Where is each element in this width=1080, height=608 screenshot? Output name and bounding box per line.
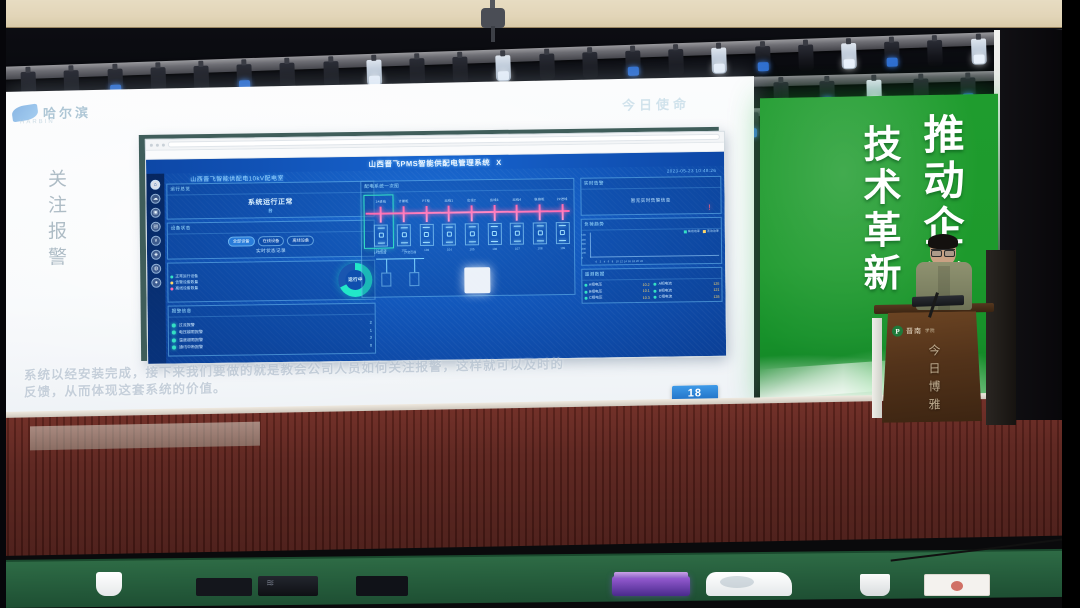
feeder-bay[interactable]: 出线3106 bbox=[483, 197, 505, 203]
breaker-icon bbox=[536, 225, 543, 226]
breaker-icon bbox=[514, 226, 521, 227]
dashboard-left-column: 运行总览 系统运行正常 台 设备状态 全部设备在线设备离 bbox=[166, 181, 376, 361]
dashboard-screenshot: 山西晋飞PMS智能供配电管理系统 X 山西晋飞智能供配电10kV配电室 2023… bbox=[145, 131, 727, 365]
status-pill-row: 全部设备在线设备离线设备 bbox=[171, 235, 371, 248]
panel-telemetry: 遥测数据 A相电压10.2A相电流125B相电压10.1B相电流121C相电压1… bbox=[581, 267, 723, 304]
stage-spotlight bbox=[669, 49, 685, 76]
telemetry-value: 128 bbox=[714, 294, 720, 298]
purple-phone bbox=[612, 576, 690, 596]
feeder-drop bbox=[561, 204, 563, 220]
panel-device-status: 设备状态 全部设备在线设备离线设备 实时状态记录 bbox=[167, 220, 375, 260]
monitor-icon[interactable]: ▣ bbox=[151, 208, 161, 218]
feeder-bottom-label: 105 bbox=[469, 247, 474, 251]
device-c bbox=[356, 576, 408, 596]
feeder-bay[interactable]: 1#进线101开关 bbox=[370, 198, 392, 204]
chart-x-tick: 2 bbox=[600, 261, 601, 264]
gauge-wrap: 正常运行设备告警设备数量离线设备数量 运行中 bbox=[168, 261, 374, 302]
speaker-hair bbox=[928, 234, 958, 249]
feeder-top-label: 计量柜 bbox=[392, 198, 414, 204]
dashboard-right-column: 实时告警 暂无实时告警信息 ! 负荷趋势 有功功率无功功率 bbox=[580, 176, 723, 355]
switchgear-symbol bbox=[533, 222, 547, 244]
disconnector-icon bbox=[492, 231, 497, 236]
stage-spotlight bbox=[626, 50, 642, 77]
podium-logo-subtext: 学院 bbox=[925, 327, 935, 333]
panel-load-trend-chart: 负荷趋势 有功功率无功功率 5004003002001000 024681012… bbox=[580, 217, 722, 266]
gauge-legend-label: 正常运行设备 bbox=[175, 274, 198, 279]
browser-forward-icon[interactable] bbox=[156, 143, 159, 146]
feeder-bottom-label: 103 bbox=[424, 248, 429, 252]
disconnector-icon bbox=[515, 231, 520, 236]
telemetry-value: 121 bbox=[713, 288, 719, 292]
panel-status-body: 全部设备在线设备离线设备 实时状态记录 bbox=[168, 232, 374, 259]
podium-laptop bbox=[912, 295, 964, 307]
disconnector-icon bbox=[424, 232, 429, 237]
earth-switch-icon bbox=[423, 242, 430, 243]
feeder-top-label: 出线2 bbox=[460, 197, 482, 203]
switchgear-symbol bbox=[465, 223, 479, 245]
telemetry-item: A相电压10.2 bbox=[584, 282, 650, 288]
earth-switch-icon bbox=[491, 241, 498, 242]
telemetry-value: 10.3 bbox=[643, 295, 650, 299]
load-trend-chart: 有功功率无功功率 5004003002001000 02468101214161… bbox=[581, 229, 721, 265]
disconnector-icon bbox=[560, 231, 565, 236]
feeder-top-label: 2#进线 bbox=[551, 196, 573, 202]
feeder-top-label: 出线3 bbox=[483, 197, 505, 203]
stage-spotlight bbox=[885, 41, 901, 68]
feeder-bay[interactable]: PT柜103 bbox=[415, 198, 437, 204]
breaker-icon bbox=[468, 226, 475, 227]
dashboard-title: 山西晋飞PMS智能供配电管理系统 bbox=[368, 157, 490, 170]
telemetry-label: A相电压 bbox=[589, 283, 602, 288]
stage-spotlight bbox=[755, 46, 771, 73]
breaker-icon bbox=[400, 227, 407, 228]
tissue-box bbox=[706, 572, 792, 596]
telemetry-item: B相电流121 bbox=[654, 287, 720, 293]
stage-spotlight bbox=[323, 61, 339, 88]
chart-x-tick: 10 bbox=[616, 260, 619, 263]
speaker-person bbox=[916, 236, 972, 322]
feeder-top-label: 联络柜 bbox=[528, 196, 550, 202]
telemetry-value: 10.1 bbox=[643, 289, 650, 293]
ceiling-camera-rig bbox=[476, 0, 510, 40]
panel-gauge: 正常运行设备告警设备数量离线设备数量 运行中 bbox=[167, 260, 375, 303]
feeder-bottom-label: 108 bbox=[538, 246, 543, 250]
browser-window: 山西晋飞PMS智能供配电管理系统 X 山西晋飞智能供配电10kV配电室 2023… bbox=[145, 131, 727, 365]
gauge-legend-label: 告警设备数量 bbox=[175, 280, 198, 285]
panel-overview: 运行总览 系统运行正常 台 bbox=[166, 181, 374, 220]
telemetry-item: C相电压10.3 bbox=[584, 295, 650, 301]
feeder-bottom-label: 106 bbox=[492, 247, 497, 251]
breaker-icon bbox=[378, 228, 385, 229]
bullet-icon bbox=[584, 297, 587, 300]
overview-unit: 台 bbox=[171, 207, 371, 216]
disconnector-icon bbox=[537, 231, 542, 236]
feeder-drop bbox=[448, 206, 450, 222]
breaker-icon bbox=[446, 227, 453, 228]
ceiling-wall bbox=[0, 0, 1080, 30]
dashboard-sidebar: ⌂☁▣▤∨◈◍● bbox=[146, 174, 166, 364]
legend-swatch-icon bbox=[684, 230, 687, 233]
feeder-drop bbox=[539, 204, 541, 220]
chart-x-tick: 20 bbox=[636, 260, 639, 263]
chart-y-tick: 0 bbox=[582, 256, 583, 259]
feeder-bottom-label: 107 bbox=[515, 247, 520, 251]
alarm-label: 电压越限报警 bbox=[179, 329, 203, 335]
overview-value: 系统运行正常 台 bbox=[170, 196, 370, 216]
switchgear-symbol bbox=[442, 224, 456, 246]
chart-x-tick: 16 bbox=[628, 260, 631, 263]
feeder-bottom-label: 109 bbox=[560, 246, 565, 250]
transformer-symbol-2 bbox=[409, 272, 419, 286]
chart-x-axis bbox=[590, 255, 720, 258]
alarm-label: 过流报警 bbox=[179, 322, 195, 328]
chart-x-tick: 12 bbox=[620, 260, 623, 263]
earth-switch-icon bbox=[514, 240, 521, 241]
stage-spotlight bbox=[539, 53, 555, 80]
panel-overview-body: 系统运行正常 台 bbox=[167, 193, 373, 219]
disconnector-icon bbox=[469, 232, 474, 237]
realtime-alarm-empty: 暂无实时告警信息 bbox=[584, 197, 718, 205]
cloud-icon[interactable]: ☁ bbox=[150, 194, 160, 204]
feeder-top-label: 出线4 bbox=[506, 197, 528, 203]
disconnector-icon bbox=[401, 233, 406, 238]
glasses-icon bbox=[931, 249, 955, 254]
chart-x-tick: 22 bbox=[640, 260, 643, 263]
feeder-drop bbox=[516, 205, 518, 221]
screen-hotspot-glare bbox=[464, 267, 490, 293]
stage-scene: 哈尔滨 HARBIN 今日使命 关注报警 山西晋飞PMS智能供配电管理系统 X bbox=[0, 0, 1080, 608]
slide-subtitle: 系统以经安装完成，接下来我们要做的就是教会公司人员如何关注报警，这样就可以及时的… bbox=[24, 353, 724, 402]
gauge-legend-item: 告警设备数量 bbox=[170, 280, 198, 285]
earth-switch-icon bbox=[559, 240, 566, 241]
stage-spotlight bbox=[971, 38, 987, 65]
switchgear-symbol bbox=[510, 223, 524, 245]
slide-header-right: 今日使命 bbox=[622, 94, 690, 114]
bullet-icon bbox=[654, 296, 657, 299]
device-a bbox=[196, 578, 252, 596]
realtime-alarm-body: 暂无实时告警信息 bbox=[581, 188, 721, 208]
feeder-top-label: PT柜 bbox=[415, 198, 437, 204]
stage-pillar-dark bbox=[986, 250, 1016, 425]
alarm-icon[interactable]: ∨ bbox=[151, 236, 161, 246]
panel-realtime-alarm: 实时告警 暂无实时告警信息 ! bbox=[580, 176, 722, 216]
feeder-top-label: 出线1 bbox=[438, 197, 460, 203]
feeder-drop bbox=[425, 206, 427, 222]
status-pill[interactable]: 离线设备 bbox=[287, 236, 314, 246]
dashboard-middle-column: 配电系统一次图 1#进线101开关计量柜102PT柜103出线1104出线210… bbox=[360, 178, 576, 358]
panel-alarm-body: 过流报警2电压越限报警1温度超限报警3通讯中断报警0 bbox=[169, 315, 375, 356]
legend-dot-icon bbox=[170, 281, 173, 284]
slide-vertical-heading: 关注报警 bbox=[42, 169, 69, 274]
chart-y-axis bbox=[589, 233, 590, 258]
feeder-drop bbox=[471, 205, 473, 221]
chart-y-tick: 100 bbox=[582, 252, 586, 255]
stage-spotlight bbox=[712, 47, 728, 74]
bullet-icon bbox=[584, 290, 587, 293]
telemetry-item: C相电流128 bbox=[654, 294, 720, 300]
feeder-bay[interactable]: 计量柜102 bbox=[392, 198, 414, 204]
browser-reload-icon[interactable] bbox=[162, 143, 165, 146]
telemetry-label: C相电流 bbox=[659, 295, 672, 300]
chart-legend-label: 无功功率 bbox=[707, 229, 719, 233]
device-donut-chart: 运行中 bbox=[338, 263, 372, 297]
chart-x-tick: 18 bbox=[632, 260, 635, 263]
stage-spotlight bbox=[841, 43, 857, 70]
chart-x-tick: 14 bbox=[624, 260, 627, 263]
breaker-icon bbox=[423, 227, 430, 228]
chart-legend-item: 无功功率 bbox=[703, 229, 719, 233]
chart-x-tick: 6 bbox=[608, 260, 609, 263]
alarm-label: 温度超限报警 bbox=[179, 337, 203, 343]
feeder-bay[interactable]: 出线1104 bbox=[438, 197, 460, 203]
podium-calligraphy: 今日博雅 bbox=[926, 344, 943, 416]
branch-line bbox=[376, 258, 424, 260]
feeder-bay[interactable]: 出线4107 bbox=[506, 197, 528, 203]
frame-right bbox=[1062, 0, 1080, 608]
panel-single-line-diagram: 配电系统一次图 1#进线101开关计量柜102PT柜103出线1104出线210… bbox=[360, 178, 575, 298]
podium-body: P 晋南 学院 今日博雅 bbox=[882, 311, 982, 423]
chart-y-tick: 200 bbox=[582, 247, 586, 250]
switchgear-symbol bbox=[374, 224, 388, 246]
telemetry-item: A相电流125 bbox=[654, 281, 720, 287]
telemetry-grid: A相电压10.2A相电流125B相电压10.1B相电流121C相电压10.3C相… bbox=[582, 279, 722, 303]
chart-y-tick: 400 bbox=[581, 238, 585, 241]
chart-legend-label: 有功功率 bbox=[688, 229, 700, 233]
feeder-drop bbox=[493, 205, 495, 221]
panel-alarm-list: 报警信息 过流报警2电压越限报警1温度超限报警3通讯中断报警0 bbox=[168, 303, 377, 357]
breaker-icon bbox=[491, 226, 498, 227]
podium-logo: P 晋南 学院 bbox=[892, 325, 935, 337]
alarm-list-item[interactable]: 通讯中断报警0 bbox=[172, 342, 372, 351]
chart-legend-item: 有功功率 bbox=[684, 229, 700, 233]
telemetry-label: C相电压 bbox=[589, 296, 602, 301]
branch-label-1: 1#变压器 bbox=[374, 251, 386, 255]
telemetry-label: A相电流 bbox=[659, 282, 672, 287]
settings-icon[interactable]: ◍ bbox=[151, 264, 161, 274]
single-line-diagram: 1#进线101开关计量柜102PT柜103出线1104出线2105出线3106出… bbox=[361, 190, 574, 297]
report-icon[interactable]: ▤ bbox=[151, 222, 161, 232]
switchgear-symbol bbox=[555, 222, 569, 244]
paper-card bbox=[924, 574, 990, 596]
projection-screen: 哈尔滨 HARBIN 今日使命 关注报警 山西晋飞PMS智能供配电管理系统 X bbox=[6, 76, 754, 427]
branch-label-2: 2#变压器 bbox=[404, 250, 416, 254]
podium-logo-mark: P bbox=[892, 326, 903, 337]
stage-spotlight bbox=[410, 58, 426, 85]
frame-left bbox=[0, 0, 6, 608]
bullet-icon bbox=[172, 323, 176, 327]
bullet-icon bbox=[584, 284, 587, 287]
chart-x-tick: 0 bbox=[596, 261, 597, 264]
dashboard-datetime: 2023-05-23 10:48:26 bbox=[667, 168, 716, 174]
bullet-icon bbox=[172, 346, 176, 350]
feeder-bay[interactable]: 2#进线109 bbox=[551, 196, 573, 202]
status-caption: 实时状态记录 bbox=[171, 247, 371, 256]
switchgear-symbol bbox=[419, 224, 433, 246]
device-b bbox=[258, 576, 318, 596]
chart-x-tick: 8 bbox=[612, 260, 613, 263]
transformer-symbol-1 bbox=[381, 272, 391, 286]
stage-spotlight bbox=[582, 52, 598, 79]
breaker-icon bbox=[559, 225, 566, 226]
water-cup bbox=[96, 572, 122, 596]
telemetry-value: 10.2 bbox=[643, 282, 650, 286]
browser-back-icon[interactable] bbox=[150, 143, 153, 146]
layers-icon[interactable]: ◈ bbox=[151, 250, 161, 260]
stage-spotlight bbox=[496, 55, 512, 82]
exclamation-icon: ! bbox=[708, 203, 710, 212]
pms-dashboard: 山西晋飞PMS智能供配电管理系统 X 山西晋飞智能供配电10kV配电室 2023… bbox=[146, 152, 726, 364]
chart-y-tick: 500 bbox=[581, 234, 585, 237]
earth-switch-icon bbox=[378, 242, 385, 243]
brand-subtext: HARBIN bbox=[20, 119, 55, 126]
overview-value-text: 系统运行正常 bbox=[248, 199, 293, 207]
feeder-bay[interactable]: 出线2105 bbox=[460, 197, 482, 203]
telemetry-label: B相电流 bbox=[659, 288, 672, 293]
transformer-branches: 1#变压器 2#变压器 bbox=[370, 254, 430, 291]
gauge-legend-label: 离线设备数量 bbox=[175, 286, 198, 291]
gauge-legend-item: 离线设备数量 bbox=[170, 286, 198, 291]
earth-switch-icon bbox=[400, 242, 407, 243]
podium-logo-text: 晋南 bbox=[906, 326, 922, 336]
legend-dot-icon bbox=[170, 287, 173, 290]
disconnector-icon bbox=[447, 232, 452, 237]
telemetry-label: B相电压 bbox=[589, 289, 602, 294]
bullet-icon bbox=[172, 338, 176, 342]
stage-spotlight bbox=[453, 57, 469, 84]
gauge-legend-item: 正常运行设备 bbox=[170, 274, 198, 279]
chart-x-tick: 4 bbox=[604, 260, 605, 263]
branch-drop-1 bbox=[386, 259, 388, 273]
status-pill[interactable]: 在线设备 bbox=[258, 236, 285, 246]
bullet-icon bbox=[172, 331, 176, 335]
donut-center-text: 运行中 bbox=[338, 263, 372, 297]
chart-legend: 有功功率无功功率 bbox=[684, 229, 719, 233]
telemetry-value: 125 bbox=[713, 281, 719, 285]
user-icon[interactable]: ● bbox=[151, 278, 161, 288]
legend-swatch-icon bbox=[703, 230, 706, 233]
telemetry-item: B相电压10.1 bbox=[584, 288, 650, 294]
feeder-top-label: 1#进线 bbox=[370, 198, 392, 204]
disconnector-icon bbox=[379, 233, 384, 238]
switchgear-symbol bbox=[487, 223, 501, 245]
status-pill[interactable]: 全部设备 bbox=[228, 236, 255, 246]
second-cup bbox=[860, 574, 890, 596]
earth-switch-icon bbox=[468, 241, 475, 242]
dashboard-title-badge[interactable]: X bbox=[496, 157, 502, 166]
earth-switch-icon bbox=[536, 240, 543, 241]
stage-steps bbox=[30, 422, 260, 451]
stage-spotlight bbox=[798, 44, 814, 71]
legend-dot-icon bbox=[170, 275, 173, 278]
feeder-drop bbox=[403, 206, 405, 222]
stage-spotlight bbox=[367, 60, 383, 87]
branch-drop-2 bbox=[414, 258, 416, 272]
chart-y-tick: 300 bbox=[581, 243, 585, 246]
alarm-label: 通讯中断报警 bbox=[179, 344, 203, 350]
bullet-icon bbox=[654, 283, 657, 286]
home-icon[interactable]: ⌂ bbox=[150, 180, 160, 190]
gauge-legend: 正常运行设备告警设备数量离线设备数量 bbox=[170, 273, 198, 292]
feeder-bay[interactable]: 联络柜108 bbox=[528, 196, 550, 202]
feeder-bottom-label: 104 bbox=[447, 248, 452, 252]
stage-spotlight bbox=[928, 40, 944, 67]
led-banner-text-left: 技术革新 bbox=[851, 123, 906, 296]
earth-switch-icon bbox=[446, 241, 453, 242]
switchgear-symbol bbox=[397, 224, 411, 246]
feeder-drop bbox=[380, 207, 382, 223]
bullet-icon bbox=[654, 289, 657, 292]
